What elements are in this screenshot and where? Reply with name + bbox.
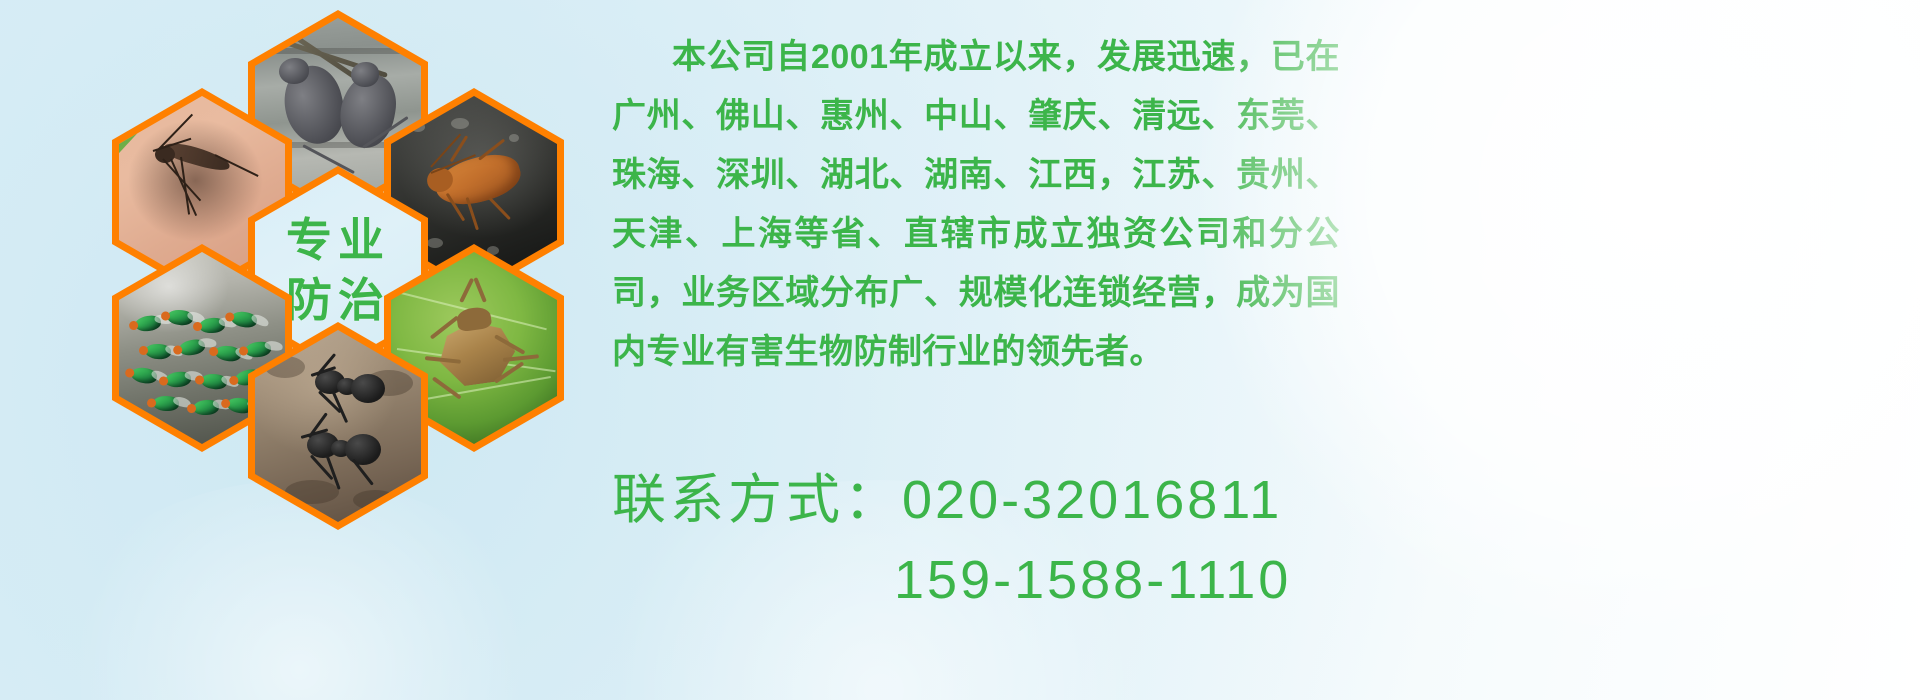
logo-text: 专业 防治 (286, 216, 390, 325)
logo-line-2: 防治 (286, 276, 390, 324)
contact-label: 联系方式： (612, 470, 902, 530)
phone-number-primary[interactable]: 020-32016811 (902, 470, 1282, 530)
company-intro-paragraph: 本公司自2001年成立以来，发展迅速，已在广州、佛山、惠州、中山、肇庆、清远、东… (612, 28, 1340, 382)
contact-secondary-line: 159-1588-1110 (612, 540, 1862, 620)
promo-banner: 专业 防治 (0, 0, 1920, 700)
contact-primary-line: 联系方式：020-32016811 (612, 460, 1862, 540)
logo-line-1: 专业 (286, 214, 390, 266)
honeycomb-collage: 专业 防治 (96, 10, 596, 585)
contact-block: 联系方式：020-32016811 159-1588-1110 (612, 460, 1862, 620)
ant-photo (255, 330, 421, 522)
phone-number-secondary[interactable]: 159-1588-1110 (894, 550, 1291, 610)
banner-content: 本公司自2001年成立以来，发展迅速，已在广州、佛山、惠州、中山、肇庆、清远、东… (612, 28, 1862, 620)
